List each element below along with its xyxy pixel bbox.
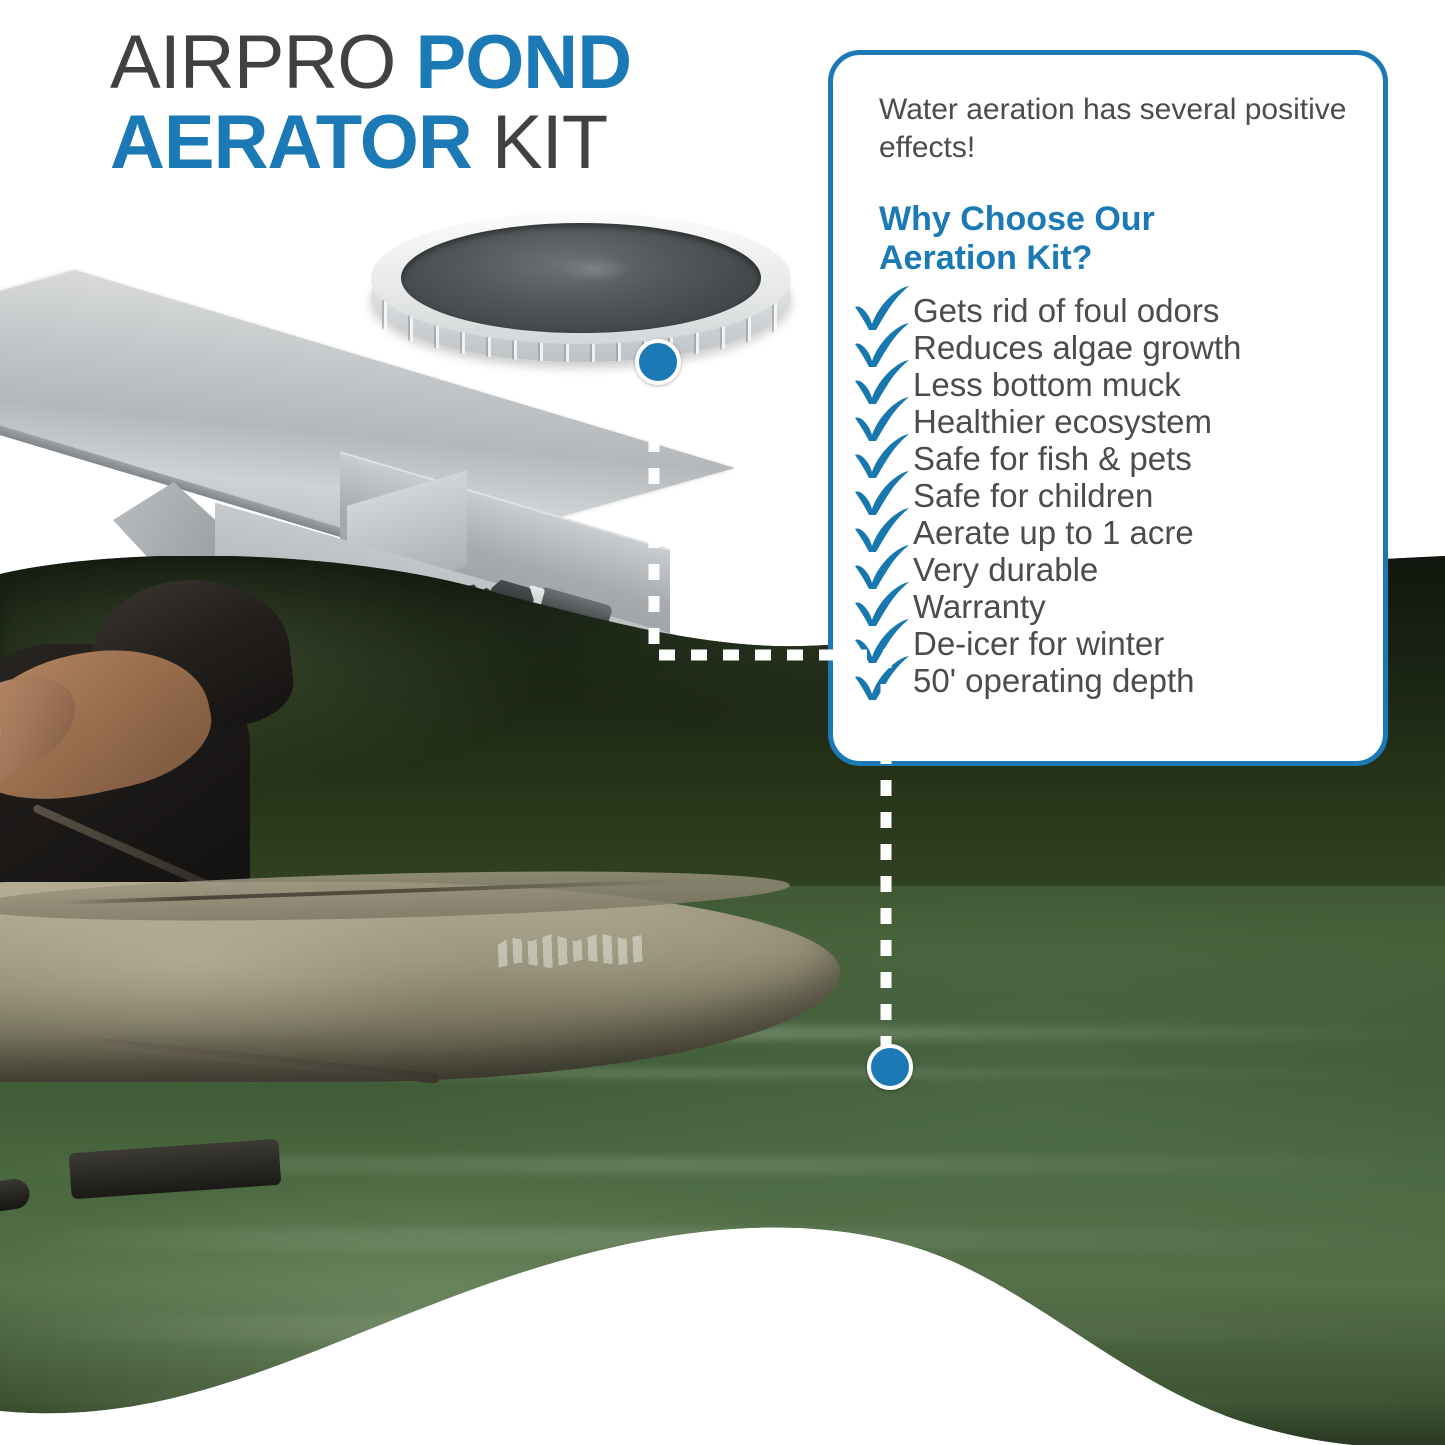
- intro-text: Water aeration has several positive effe…: [879, 91, 1357, 167]
- benefit-label: De-icer for winter: [913, 627, 1164, 660]
- benefit-item: Gets rid of foul odors: [851, 292, 1375, 329]
- benefit-label: Less bottom muck: [913, 368, 1181, 401]
- benefits-info-box: Water aeration has several positive effe…: [828, 50, 1388, 766]
- benefit-item: Safe for fish & pets: [851, 440, 1375, 477]
- diffuser-disc: [371, 212, 791, 372]
- page-title: AIRPRO POND AERATOR KIT: [110, 26, 810, 181]
- title-line-2: AERATOR KIT: [110, 106, 810, 180]
- benefit-label: Aerate up to 1 acre: [913, 516, 1194, 549]
- benefit-label: Healthier ecosystem: [913, 405, 1212, 438]
- benefit-item: De-icer for winter: [851, 625, 1375, 662]
- bottom-wave-divider: [0, 1215, 1445, 1445]
- benefit-item: Very durable: [851, 551, 1375, 588]
- product-infographic: AIRPRO POND AERATOR KIT: [0, 0, 1445, 1445]
- check-icon: [851, 659, 913, 703]
- benefit-item: 50' operating depth: [851, 662, 1375, 699]
- title-kit: KIT: [472, 100, 607, 185]
- benefit-item: Reduces algae growth: [851, 329, 1375, 366]
- benefit-item: Warranty: [851, 588, 1375, 625]
- benefit-label: 50' operating depth: [913, 664, 1195, 697]
- fishing-kayak: [0, 856, 840, 1096]
- benefit-label: Very durable: [913, 553, 1098, 586]
- benefit-item: Aerate up to 1 acre: [851, 514, 1375, 551]
- bubble-plume-location-marker: [867, 1044, 913, 1090]
- benefit-item: Less bottom muck: [851, 366, 1375, 403]
- title-pond: POND: [416, 20, 632, 105]
- title-line-1: AIRPRO POND: [110, 26, 810, 100]
- diffuser-location-marker: [635, 339, 681, 385]
- benefit-item: Healthier ecosystem: [851, 403, 1375, 440]
- benefit-label: Warranty: [913, 590, 1046, 623]
- title-aerator: AERATOR: [110, 100, 472, 185]
- benefit-label: Reduces algae growth: [913, 331, 1241, 364]
- benefits-heading: Why Choose Our Aeration Kit?: [879, 200, 1299, 278]
- benefit-item: Safe for children: [851, 477, 1375, 514]
- title-airpro: AIRPRO: [110, 20, 416, 105]
- benefits-list: Gets rid of foul odorsReduces algae grow…: [851, 292, 1375, 699]
- benefit-label: Safe for fish & pets: [913, 442, 1192, 475]
- benefit-label: Gets rid of foul odors: [913, 294, 1219, 327]
- benefit-label: Safe for children: [913, 479, 1153, 512]
- diffuser-membrane: [401, 223, 761, 333]
